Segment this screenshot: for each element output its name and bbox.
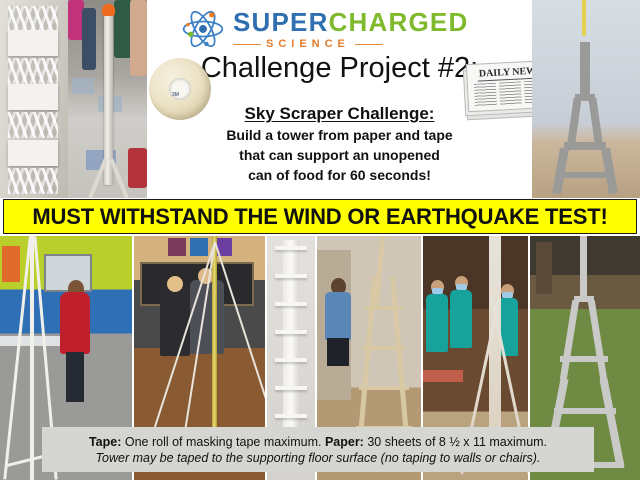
column-tier bbox=[275, 386, 307, 390]
student-legs bbox=[66, 352, 84, 402]
student-figure bbox=[160, 288, 190, 356]
student-shorts bbox=[327, 338, 349, 366]
logo-rule-left bbox=[233, 44, 261, 45]
atom-icon bbox=[181, 7, 225, 51]
tree-trunk bbox=[536, 242, 552, 294]
column-tier bbox=[275, 330, 307, 334]
photo-eiffel-tower-model bbox=[532, 0, 640, 198]
challenge-line-3: can of food for 60 seconds! bbox=[147, 166, 532, 184]
face-mask-icon bbox=[432, 288, 443, 294]
logo-word-charged: CHARGED bbox=[329, 7, 469, 37]
tower-zigzag bbox=[8, 58, 58, 84]
column-tier bbox=[275, 274, 307, 278]
face-mask-icon bbox=[456, 284, 467, 290]
rules-line-1: Tape: One roll of masking tape maximum. … bbox=[89, 434, 547, 450]
classroom-poster bbox=[2, 246, 20, 282]
wall-art bbox=[168, 238, 186, 256]
slide-canvas: SUPERCHARGED SCIENCE Challenge Project #… bbox=[0, 0, 640, 480]
person-teal-shirt bbox=[450, 290, 472, 348]
logo-word-science: SCIENCE bbox=[266, 38, 350, 50]
challenge-description: Sky Scraper Challenge: Build a tower fro… bbox=[147, 104, 532, 184]
column-tier bbox=[275, 358, 307, 362]
eiffel-tower-structure bbox=[550, 42, 620, 192]
tower-zigzag bbox=[8, 112, 58, 138]
tower-shelf bbox=[8, 30, 58, 56]
rules-label-tape: Tape: bbox=[89, 435, 121, 449]
challenge-line-1: Build a tower from paper and tape bbox=[147, 126, 532, 144]
column-tier bbox=[275, 246, 307, 250]
rules-label-paper: Paper: bbox=[325, 435, 364, 449]
photo-white-paper-tower bbox=[0, 0, 68, 198]
tower-mast bbox=[582, 0, 586, 36]
student-blue-shirt bbox=[325, 292, 351, 340]
tape-brand-label: 3M bbox=[172, 92, 179, 98]
wall-art bbox=[190, 238, 208, 256]
tower-zigzag bbox=[8, 168, 58, 194]
warning-banner: MUST WITHSTAND THE WIND OR EARTHQUAKE TE… bbox=[3, 199, 637, 234]
rules-caption-box: Tape: One roll of masking tape maximum. … bbox=[42, 427, 594, 472]
warning-banner-text: MUST WITHSTAND THE WIND OR EARTHQUAKE TE… bbox=[32, 204, 607, 230]
supercharged-science-logo: SUPERCHARGED SCIENCE bbox=[181, 5, 501, 53]
content-panel: SUPERCHARGED SCIENCE Challenge Project #… bbox=[147, 0, 532, 198]
rules-text-tape: One roll of masking tape maximum. bbox=[121, 435, 325, 449]
tower-orange-cap bbox=[102, 4, 115, 16]
tower-shelf bbox=[8, 140, 58, 166]
tower-center-pole bbox=[212, 236, 217, 436]
top-photo-band: SUPERCHARGED SCIENCE Challenge Project #… bbox=[0, 0, 640, 198]
logo-rule-right bbox=[355, 44, 383, 45]
person-teal-shirt bbox=[426, 294, 448, 352]
wooden-bench bbox=[423, 370, 463, 382]
logo-word-super: SUPER bbox=[233, 7, 329, 37]
student-red-jacket bbox=[60, 292, 90, 354]
tower-strut bbox=[30, 236, 34, 480]
challenge-line-2: that can support an unopened bbox=[147, 146, 532, 164]
person-figure bbox=[82, 8, 96, 70]
person-figure bbox=[130, 0, 147, 76]
logo-wordmark: SUPERCHARGED SCIENCE bbox=[233, 9, 468, 50]
column-tier bbox=[275, 414, 307, 418]
rules-line-2: Tower may be taped to the supporting flo… bbox=[96, 450, 541, 466]
rules-text-paper: 30 sheets of 8 ½ x 11 maximum. bbox=[364, 435, 547, 449]
tower-zigzag bbox=[8, 6, 58, 32]
face-mask-icon bbox=[502, 292, 513, 298]
photo-classroom-rocket-tower bbox=[68, 0, 147, 198]
challenge-heading: Sky Scraper Challenge: bbox=[147, 104, 532, 124]
tower-shelf bbox=[8, 84, 58, 110]
person-figure bbox=[128, 148, 147, 188]
column-tier bbox=[275, 302, 307, 306]
floor-tile bbox=[72, 78, 94, 94]
paper-column bbox=[283, 240, 299, 430]
